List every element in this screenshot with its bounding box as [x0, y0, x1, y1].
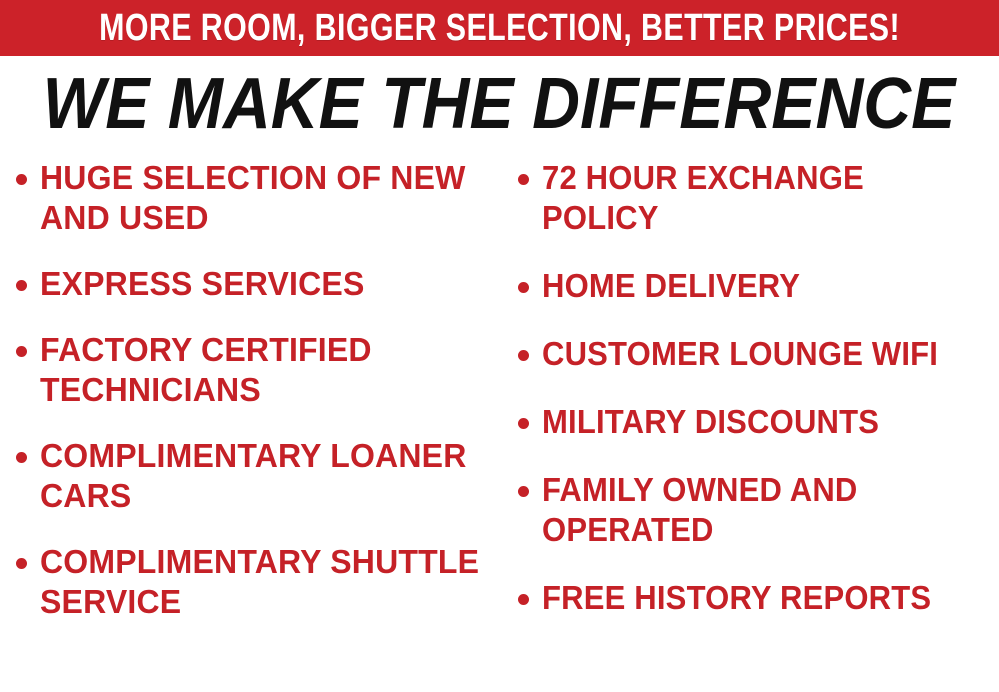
list-item-label: FREE HISTORY REPORTS	[542, 578, 970, 618]
list-item-label: COMPLIMENTARY SHUTTLE SERVICE	[40, 542, 480, 622]
bullet-dot-icon	[518, 174, 529, 185]
list-item: 72 HOUR EXCHANGE POLICY	[518, 158, 998, 238]
benefits-columns: HUGE SELECTION OF NEW AND USED EXPRESS S…	[0, 158, 999, 692]
list-item: FACTORY CERTIFIED TECHNICIANS	[16, 330, 494, 410]
list-item: HOME DELIVERY	[518, 266, 998, 306]
list-item-label: CUSTOMER LOUNGE WIFI	[542, 334, 970, 374]
list-item-label: FAMILY OWNED AND OPERATED	[542, 470, 970, 550]
list-item-label: MILITARY DISCOUNTS	[542, 402, 970, 442]
benefits-column-right: 72 HOUR EXCHANGE POLICY HOME DELIVERY CU…	[500, 158, 999, 646]
bullet-dot-icon	[518, 486, 529, 497]
top-banner: MORE ROOM, BIGGER SELECTION, BETTER PRIC…	[0, 0, 999, 56]
bullet-dot-icon	[16, 174, 27, 185]
banner-headline-text: MORE ROOM, BIGGER SELECTION, BETTER PRIC…	[99, 9, 900, 47]
list-item-label: HUGE SELECTION OF NEW AND USED	[40, 158, 480, 238]
bullet-dot-icon	[16, 346, 27, 357]
list-item-label: 72 HOUR EXCHANGE POLICY	[542, 158, 970, 238]
promo-poster: MORE ROOM, BIGGER SELECTION, BETTER PRIC…	[0, 0, 999, 692]
main-headline: WE MAKE THE DIFFERENCE	[0, 64, 999, 144]
bullet-dot-icon	[518, 282, 529, 293]
list-item-label: FACTORY CERTIFIED TECHNICIANS	[40, 330, 480, 410]
bullet-dot-icon	[16, 280, 27, 291]
list-item: MILITARY DISCOUNTS	[518, 402, 998, 442]
list-item: HUGE SELECTION OF NEW AND USED	[16, 158, 494, 238]
list-item-label: HOME DELIVERY	[542, 266, 970, 306]
main-headline-text: WE MAKE THE DIFFERENCE	[43, 67, 956, 141]
list-item-label: EXPRESS SERVICES	[40, 264, 480, 304]
bullet-dot-icon	[16, 558, 27, 569]
bullet-dot-icon	[518, 350, 529, 361]
list-item: COMPLIMENTARY SHUTTLE SERVICE	[16, 542, 494, 622]
list-item: FAMILY OWNED AND OPERATED	[518, 470, 998, 550]
benefits-column-left: HUGE SELECTION OF NEW AND USED EXPRESS S…	[0, 158, 500, 648]
list-item: EXPRESS SERVICES	[16, 264, 494, 304]
list-item: CUSTOMER LOUNGE WIFI	[518, 334, 998, 374]
bullet-dot-icon	[518, 418, 529, 429]
list-item-label: COMPLIMENTARY LOANER CARS	[40, 436, 480, 516]
bullet-dot-icon	[518, 594, 529, 605]
list-item: FREE HISTORY REPORTS	[518, 578, 998, 618]
bullet-dot-icon	[16, 452, 27, 463]
list-item: COMPLIMENTARY LOANER CARS	[16, 436, 494, 516]
